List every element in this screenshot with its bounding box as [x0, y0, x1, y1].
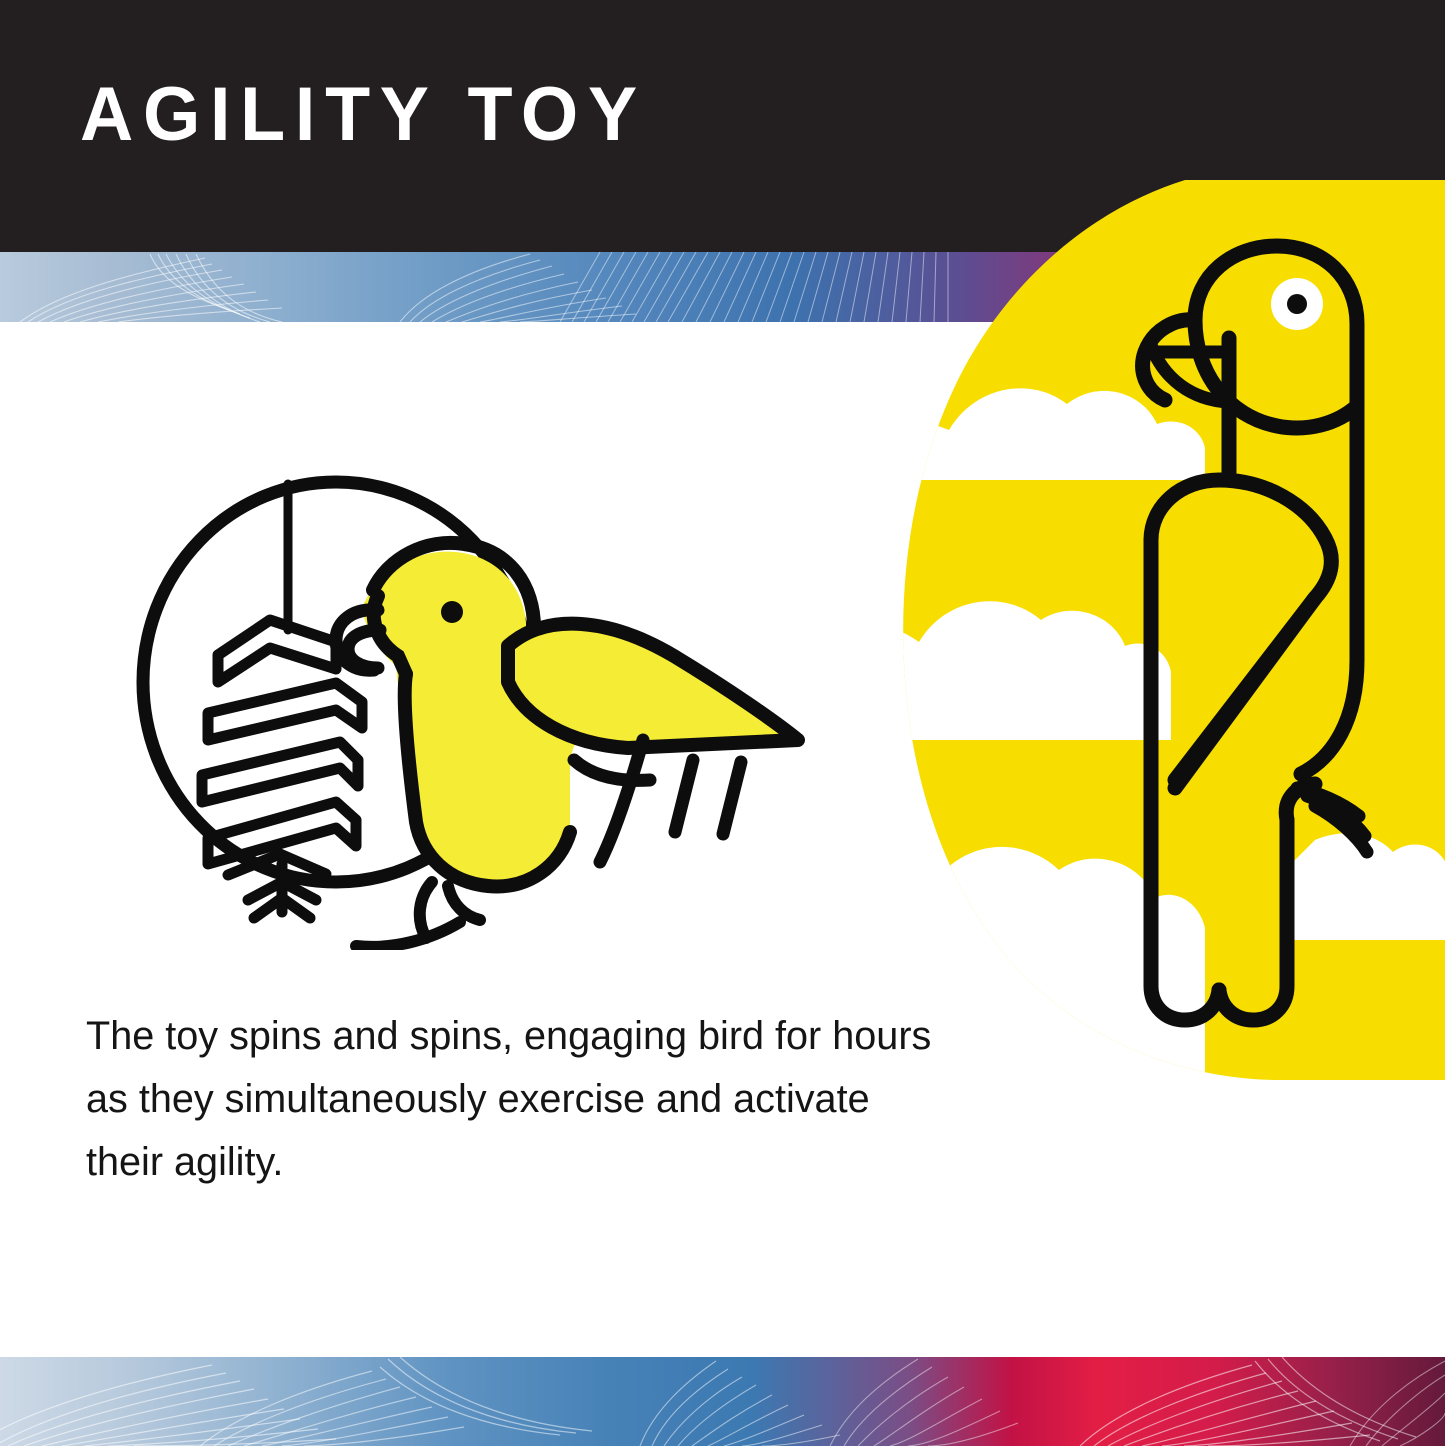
- parrot-eye-pupil: [1287, 294, 1307, 314]
- feather-pattern-bottom: [0, 1357, 1445, 1446]
- parrot-on-yellow-blob-illustration: [845, 180, 1445, 1080]
- bird-legs: [356, 882, 480, 947]
- motion-lines: [600, 740, 741, 862]
- page-title: AGILITY TOY: [80, 74, 647, 156]
- product-feature-card: AGILITY TOY: [0, 0, 1445, 1446]
- feather-gradient-band-bottom: [0, 1357, 1445, 1446]
- parrot-svg: [845, 180, 1445, 1080]
- description-text: The toy spins and spins, engaging bird f…: [86, 1005, 937, 1194]
- toy-icon-svg: [130, 430, 810, 950]
- bird-with-agility-toy-icon: [130, 430, 810, 950]
- bird-eye: [441, 601, 463, 623]
